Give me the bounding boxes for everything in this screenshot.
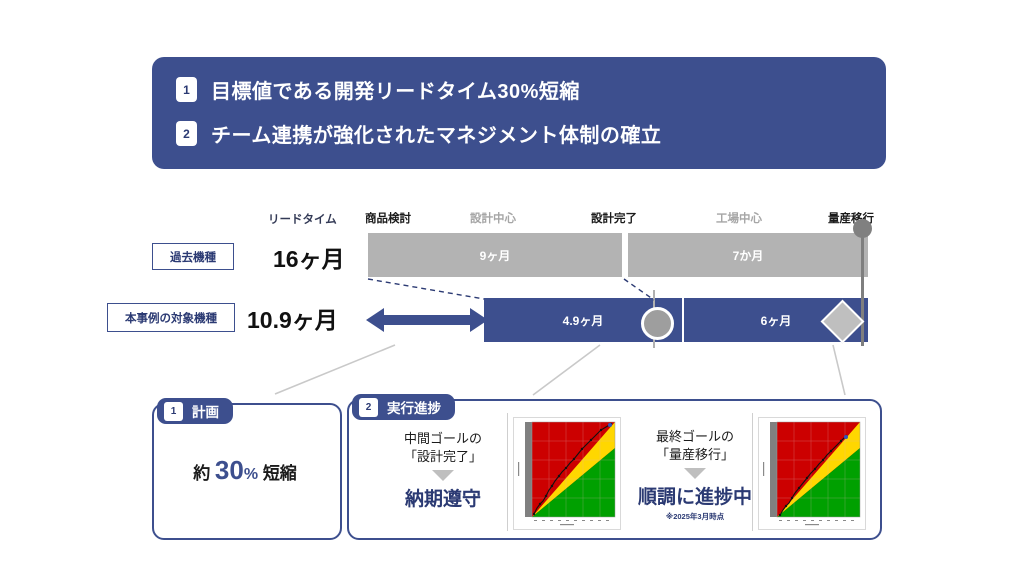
final-goal-result: 順調に進捗中 <box>625 482 765 509</box>
chart-1-svg <box>514 418 620 529</box>
plan-value-unit: % <box>244 466 258 483</box>
final-goal-line2: 「量産移行」 <box>625 446 765 464</box>
row-label-target-model: 本事例の対象機種 <box>107 303 235 332</box>
plan-value-number: 30 <box>215 455 244 485</box>
progress-chart-thumbnail-2[interactable] <box>758 417 866 530</box>
row-total-past-model: 16ヶ月 <box>273 240 345 274</box>
phase-label-product-study: 商品検討 <box>365 210 411 226</box>
plan-card-tab-label: 計画 <box>192 401 219 421</box>
goal-1-text: 目標値である開発リードタイム30%短縮 <box>211 75 580 104</box>
goal-item-1: 1 目標値である開発リードタイム30%短縮 <box>176 75 580 104</box>
mass-production-circle-icon <box>853 219 872 238</box>
down-arrow-icon <box>684 468 706 479</box>
goal-2-number-badge: 2 <box>176 121 197 146</box>
bar-past-segment-1: 9ヶ月 <box>368 233 622 277</box>
lead-time-label: リードタイム <box>268 211 337 227</box>
intermediate-goal-line2: 「設計完了」 <box>373 448 513 466</box>
plan-card-value: 約 30% 短縮 <box>152 455 338 486</box>
thumbnail-divider <box>507 413 508 531</box>
down-arrow-icon <box>432 470 454 481</box>
row-total-target-model: 10.9ヶ月 <box>247 301 338 335</box>
bar-past-segment-2: 7か月 <box>628 233 868 277</box>
plan-value-suffix: 短縮 <box>263 464 297 483</box>
goals-banner: 1 目標値である開発リードタイム30%短縮 2 チーム連携が強化されたマネジメン… <box>152 57 886 169</box>
row-label-past-model: 過去機種 <box>152 243 234 270</box>
phase-label-design-focus: 設計中心 <box>470 210 516 226</box>
thumbnail-divider <box>752 413 753 531</box>
plan-value-prefix: 約 <box>193 464 210 483</box>
plan-card-number-badge: 1 <box>164 402 183 421</box>
intermediate-goal-block: 中間ゴールの 「設計完了」 納期遵守 <box>373 430 513 511</box>
intermediate-goal-result: 納期遵守 <box>373 484 513 511</box>
time-saved-arrow-icon <box>366 303 488 337</box>
progress-card-tab[interactable]: 2 実行進捗 <box>352 394 455 420</box>
final-goal-block: 最終ゴールの 「量産移行」 順調に進捗中 ※2025年3月時点 <box>625 428 765 522</box>
progress-card-number-badge: 2 <box>359 398 378 417</box>
mass-production-endline <box>861 222 864 346</box>
goal-item-2: 2 チーム連携が強化されたマネジメント体制の確立 <box>176 119 661 148</box>
phase-label-factory-focus: 工場中心 <box>716 210 762 226</box>
final-goal-note: ※2025年3月時点 <box>625 511 765 522</box>
design-complete-milestone-icon <box>641 307 674 340</box>
goal-1-number-badge: 1 <box>176 77 197 102</box>
progress-chart-thumbnail-1[interactable] <box>513 417 621 530</box>
plan-card-tab[interactable]: 1 計画 <box>157 398 233 424</box>
chart-2-svg <box>759 418 865 529</box>
intermediate-goal-line1: 中間ゴールの <box>373 430 513 448</box>
progress-card-tab-label: 実行進捗 <box>387 397 441 417</box>
phase-label-design-complete: 設計完了 <box>591 210 637 226</box>
slide-canvas: 1 目標値である開発リードタイム30%短縮 2 チーム連携が強化されたマネジメン… <box>0 0 1024 576</box>
goal-2-text: チーム連携が強化されたマネジメント体制の確立 <box>211 119 661 148</box>
final-goal-line1: 最終ゴールの <box>625 428 765 446</box>
